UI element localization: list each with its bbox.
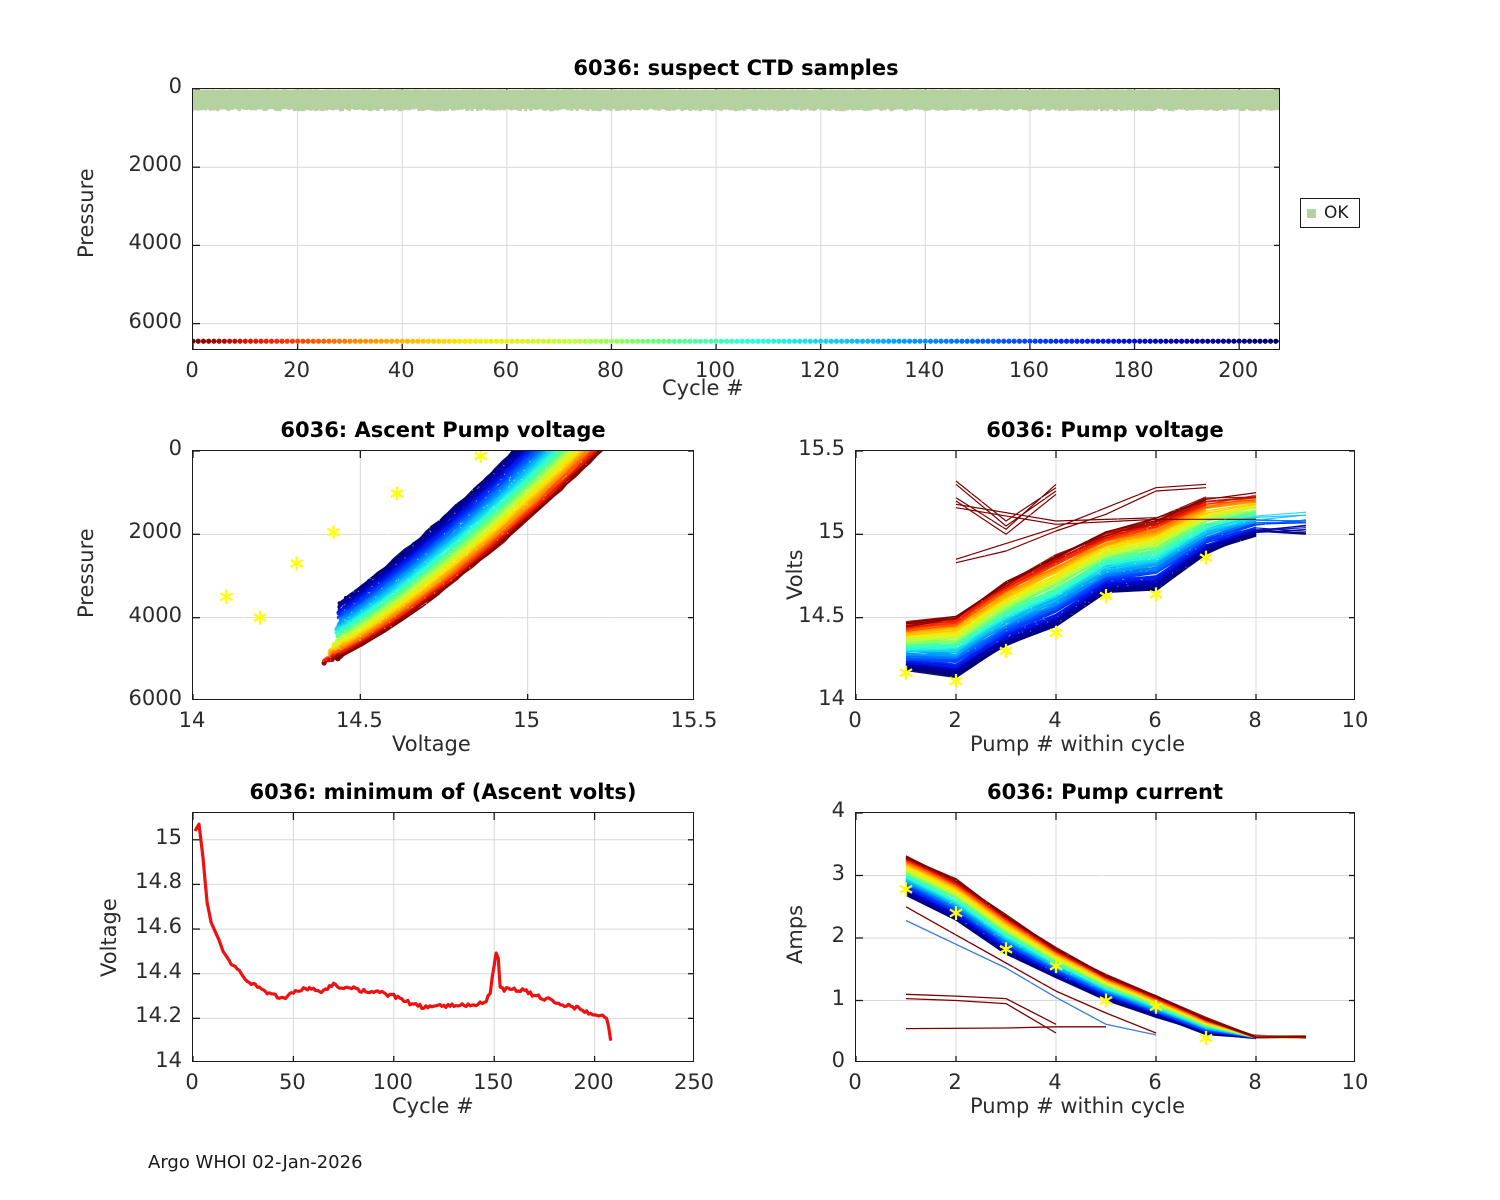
panel-title-min-ascent-volts: 6036: minimum of (Ascent volts) <box>192 780 694 804</box>
y-tick-label: 0 <box>753 1048 845 1072</box>
x-tick-label: 0 <box>152 1070 232 1094</box>
panel-title-pump-current: 6036: Pump current <box>855 780 1355 804</box>
panel-title-ascent-pump-voltage: 6036: Ascent Pump voltage <box>192 418 694 442</box>
panel-ascent-pump-voltage: 6036: Ascent Pump voltage Pressure Volta… <box>192 450 694 700</box>
x-tick-label: 0 <box>152 358 232 382</box>
x-tick-label: 140 <box>884 358 964 382</box>
y-tick-label: 1 <box>753 986 845 1010</box>
x-tick-label: 6 <box>1115 708 1195 732</box>
axis-label-volts-3: Volts <box>783 549 807 600</box>
y-tick-label: 14 <box>90 1048 182 1072</box>
plot-area-ascent-pump-voltage <box>192 450 694 700</box>
y-tick-label: 0 <box>90 436 182 460</box>
x-tick-label: 2 <box>915 1070 995 1094</box>
axis-label-voltage-2: Voltage <box>392 732 471 756</box>
axis-label-pump-num-3: Pump # within cycle <box>970 732 1185 756</box>
x-tick-label: 8 <box>1215 1070 1295 1094</box>
x-tick-label: 120 <box>780 358 860 382</box>
x-tick-label: 8 <box>1215 708 1295 732</box>
x-tick-label: 15 <box>487 708 567 732</box>
x-tick-label: 14.5 <box>319 708 399 732</box>
plot-area-min-ascent-volts <box>192 812 694 1062</box>
x-tick-label: 50 <box>252 1070 332 1094</box>
panel-pump-voltage: 6036: Pump voltage Volts Pump # within c… <box>855 450 1355 700</box>
y-tick-label: 14.8 <box>90 869 182 893</box>
panel-pump-current: 6036: Pump current Amps Pump # within cy… <box>855 812 1355 1062</box>
x-tick-label: 20 <box>257 358 337 382</box>
x-tick-label: 200 <box>554 1070 634 1094</box>
legend-swatch-ok <box>1307 209 1316 218</box>
y-tick-label: 2000 <box>90 519 182 543</box>
x-tick-label: 100 <box>353 1070 433 1094</box>
x-tick-label: 2 <box>915 708 995 732</box>
x-tick-label: 6 <box>1115 1070 1195 1094</box>
panel-minimum-ascent-volts: 6036: minimum of (Ascent volts) Voltage … <box>192 812 694 1062</box>
x-tick-label: 15.5 <box>654 708 734 732</box>
y-tick-label: 6000 <box>90 686 182 710</box>
axis-label-pump-num-5: Pump # within cycle <box>970 1094 1185 1118</box>
x-tick-label: 10 <box>1315 708 1395 732</box>
x-tick-label: 4 <box>1015 708 1095 732</box>
plot-area-pump-voltage <box>855 450 1355 700</box>
x-tick-label: 4 <box>1015 1070 1095 1094</box>
figure-footer: Argo WHOI 02-Jan-2026 <box>148 1152 363 1173</box>
x-tick-label: 10 <box>1315 1070 1395 1094</box>
y-tick-label: 15.5 <box>753 436 845 460</box>
x-tick-label: 14 <box>152 708 232 732</box>
y-tick-label: 14.4 <box>90 959 182 983</box>
y-tick-label: 14.5 <box>753 603 845 627</box>
plot-area-pump-current <box>855 812 1355 1062</box>
y-tick-label: 14 <box>753 686 845 710</box>
panel-title-pump-voltage: 6036: Pump voltage <box>855 418 1355 442</box>
x-tick-label: 250 <box>654 1070 734 1094</box>
y-tick-label: 15 <box>90 825 182 849</box>
panel-title-suspect-ctd: 6036: suspect CTD samples <box>192 56 1280 80</box>
y-tick-label: 3 <box>753 861 845 885</box>
plot-area-suspect-ctd <box>192 88 1280 350</box>
x-tick-label: 80 <box>570 358 650 382</box>
y-tick-label: 2 <box>753 923 845 947</box>
axis-label-cycle-4: Cycle # <box>392 1094 474 1118</box>
x-tick-label: 40 <box>361 358 441 382</box>
panel-suspect-ctd-samples: 6036: suspect CTD samples Pressure Cycle… <box>192 88 1280 350</box>
x-tick-label: 160 <box>989 358 1069 382</box>
x-tick-label: 180 <box>1094 358 1174 382</box>
y-tick-label: 4000 <box>90 603 182 627</box>
x-tick-label: 0 <box>815 1070 895 1094</box>
y-tick-label: 2000 <box>90 152 182 176</box>
y-tick-label: 0 <box>90 74 182 98</box>
legend-label-ok: OK <box>1324 203 1349 223</box>
x-tick-label: 200 <box>1198 358 1278 382</box>
x-tick-label: 0 <box>815 708 895 732</box>
x-tick-label: 60 <box>466 358 546 382</box>
y-tick-label: 14.2 <box>90 1003 182 1027</box>
y-tick-label: 14.6 <box>90 914 182 938</box>
y-tick-label: 6000 <box>90 309 182 333</box>
legend: OK <box>1300 198 1360 228</box>
y-tick-label: 15 <box>753 519 845 543</box>
x-tick-label: 150 <box>453 1070 533 1094</box>
y-tick-label: 4 <box>753 798 845 822</box>
y-tick-label: 4000 <box>90 230 182 254</box>
x-tick-label: 100 <box>675 358 755 382</box>
